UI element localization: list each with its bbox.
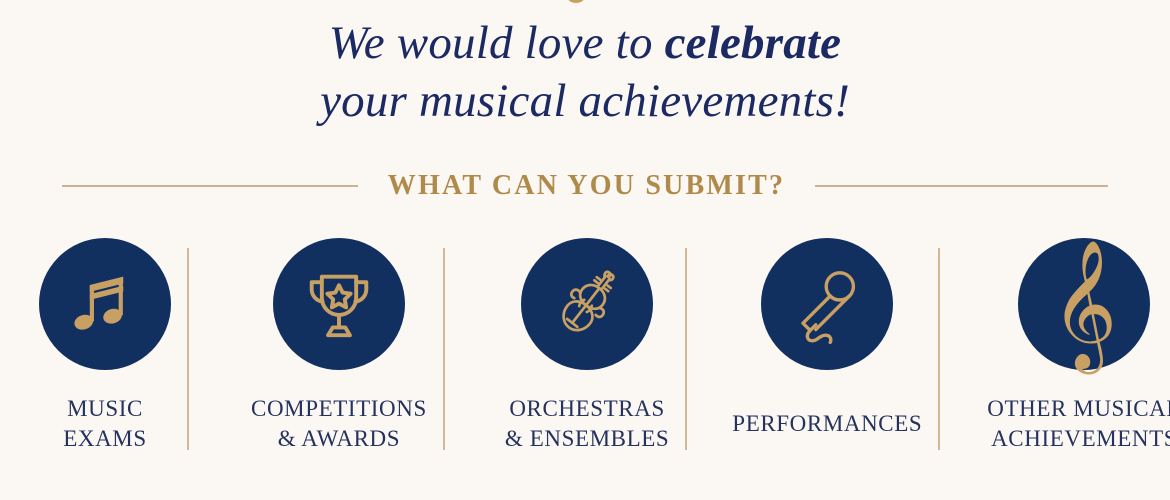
headline-emphasis-celebrate: celebrate	[665, 17, 842, 69]
category-label: OTHER MUSICALACHIEVEMENTS	[987, 394, 1170, 454]
category-icon-circle	[39, 238, 171, 370]
microphone-icon	[787, 264, 867, 344]
category-item-trophy[interactable]: COMPETITIONS& AWARDS	[251, 238, 427, 454]
treble-clef-icon: 𝄞	[1051, 248, 1117, 360]
category-item-treble-clef[interactable]: 𝄞OTHER MUSICALACHIEVEMENTS	[987, 238, 1170, 454]
headline-line-1-prefix: We would love to	[329, 17, 665, 69]
cropped-gold-ornament	[568, 0, 584, 3]
category-label: COMPETITIONS& AWARDS	[251, 394, 427, 454]
category-item-violin[interactable]: ORCHESTRAS& ENSEMBLES	[505, 238, 669, 454]
category-label-line-2: & AWARDS	[251, 424, 427, 454]
category-label-line-1: PERFORMANCES	[732, 409, 922, 439]
category-label-line-1: MUSIC	[63, 394, 147, 424]
category-label-line-2: & ENSEMBLES	[505, 424, 669, 454]
category-divider	[685, 248, 687, 450]
category-label: PERFORMANCES	[732, 409, 922, 439]
category-icon-circle	[521, 238, 653, 370]
section-divider: WHAT CAN YOU SUBMIT?	[0, 166, 1170, 206]
divider-rule-left	[62, 185, 358, 187]
page-headline: We would love to celebrate your musical …	[0, 14, 1170, 130]
category-label-line-1: ORCHESTRAS	[505, 394, 669, 424]
category-divider	[443, 248, 445, 450]
category-icon-circle: 𝄞	[1018, 238, 1150, 370]
category-divider	[938, 248, 940, 450]
music-note-icon	[67, 266, 143, 342]
trophy-icon	[300, 265, 378, 343]
category-icon-circle	[273, 238, 405, 370]
category-divider	[187, 248, 189, 450]
divider-rule-right	[815, 185, 1108, 187]
category-list: MUSICEXAMSCOMPETITIONS& AWARDSORCHESTRAS…	[0, 238, 1170, 463]
category-label: ORCHESTRAS& ENSEMBLES	[505, 394, 669, 454]
category-label-line-1: OTHER MUSICAL	[987, 394, 1170, 424]
section-title: WHAT CAN YOU SUBMIT?	[388, 170, 785, 202]
category-icon-circle	[761, 238, 893, 370]
category-label-line-2: ACHIEVEMENTS	[987, 424, 1170, 454]
category-label: MUSICEXAMS	[63, 394, 147, 454]
violin-icon	[547, 264, 627, 344]
headline-line-2: your musical achievements!	[0, 72, 1170, 130]
category-item-microphone[interactable]: PERFORMANCES	[732, 238, 922, 439]
category-label-line-2: EXAMS	[63, 424, 147, 454]
category-item-music-note[interactable]: MUSICEXAMS	[39, 238, 171, 454]
headline-line-1: We would love to celebrate	[0, 14, 1170, 72]
category-label-line-1: COMPETITIONS	[251, 394, 427, 424]
